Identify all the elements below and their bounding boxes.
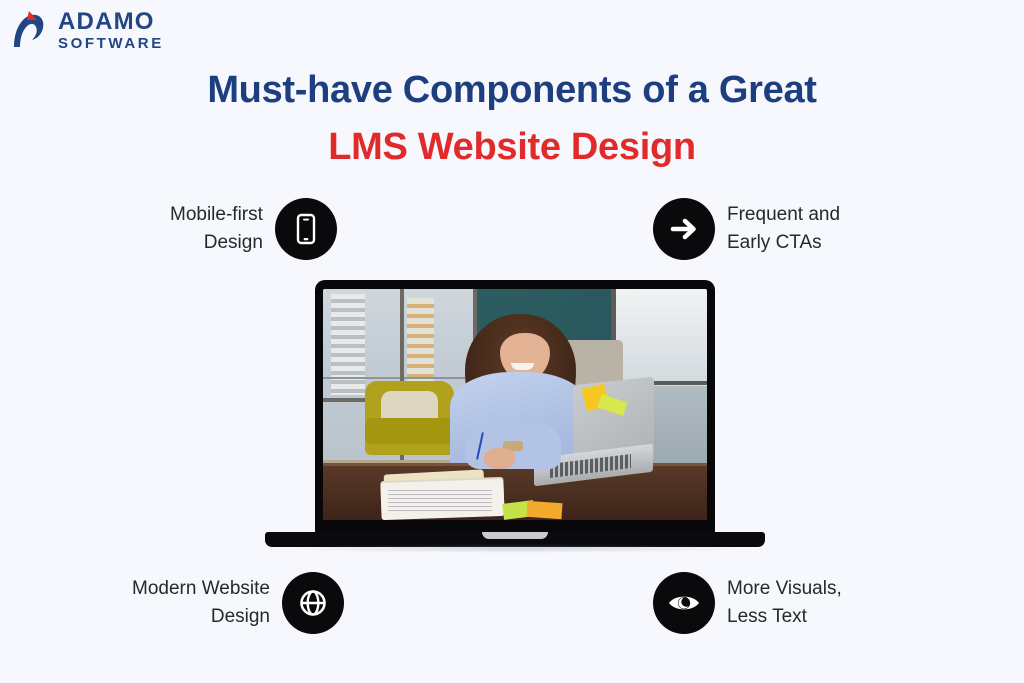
photo-person-hand: [484, 448, 515, 469]
eye-icon[interactable]: [653, 572, 715, 634]
feature-frequent-ctas-label-line2: Early CTAs: [727, 229, 840, 257]
feature-frequent-ctas[interactable]: Frequent and Early CTAs: [653, 198, 840, 260]
feature-modern-design-label: Modern Website Design: [132, 575, 270, 630]
laptop-trackpad-notch: [482, 532, 548, 539]
feature-mobile-first-label-line2: Design: [170, 229, 263, 257]
feature-frequent-ctas-label-line1: Frequent and: [727, 201, 840, 229]
feature-more-visuals-label-line1: More Visuals,: [727, 575, 842, 603]
smartphone-icon[interactable]: [275, 198, 337, 260]
headline-line-2: LMS Website Design: [0, 119, 1024, 176]
laptop-lid: [315, 280, 715, 534]
feature-more-visuals-label: More Visuals, Less Text: [727, 575, 842, 630]
photo-person-smile: [511, 363, 534, 370]
headline-line-1: Must-have Components of a Great: [0, 62, 1024, 119]
brand-name-line1: ADAMO: [58, 10, 164, 34]
laptop-shadow: [279, 544, 751, 553]
brand-name-line2: SOFTWARE: [58, 36, 164, 51]
feature-modern-design-label-line2: Design: [132, 603, 270, 631]
feature-mobile-first-label-line1: Mobile-first: [170, 201, 263, 229]
photo-open-book-text-lines: [388, 490, 492, 513]
photo-sticky-note-orange: [526, 500, 562, 519]
adamo-arch-logo-icon: [8, 8, 52, 52]
laptop-screen-photo: [323, 289, 707, 520]
feature-mobile-first-label: Mobile-first Design: [170, 201, 263, 256]
arrow-right-icon[interactable]: [653, 198, 715, 260]
feature-more-visuals-label-line2: Less Text: [727, 603, 842, 631]
brand-wordmark: ADAMO SOFTWARE: [58, 10, 164, 51]
photo-armchair-arm: [365, 418, 453, 443]
brand-logo[interactable]: ADAMO SOFTWARE: [8, 6, 208, 54]
page-title: Must-have Components of a Great LMS Webs…: [0, 62, 1024, 176]
feature-more-visuals[interactable]: More Visuals, Less Text: [653, 572, 842, 634]
feature-modern-design[interactable]: Modern Website Design: [132, 572, 344, 634]
feature-modern-design-label-line1: Modern Website: [132, 575, 270, 603]
globe-icon[interactable]: [282, 572, 344, 634]
feature-frequent-ctas-label: Frequent and Early CTAs: [727, 201, 840, 256]
feature-mobile-first[interactable]: Mobile-first Design: [170, 198, 337, 260]
laptop-mockup: [265, 280, 765, 555]
